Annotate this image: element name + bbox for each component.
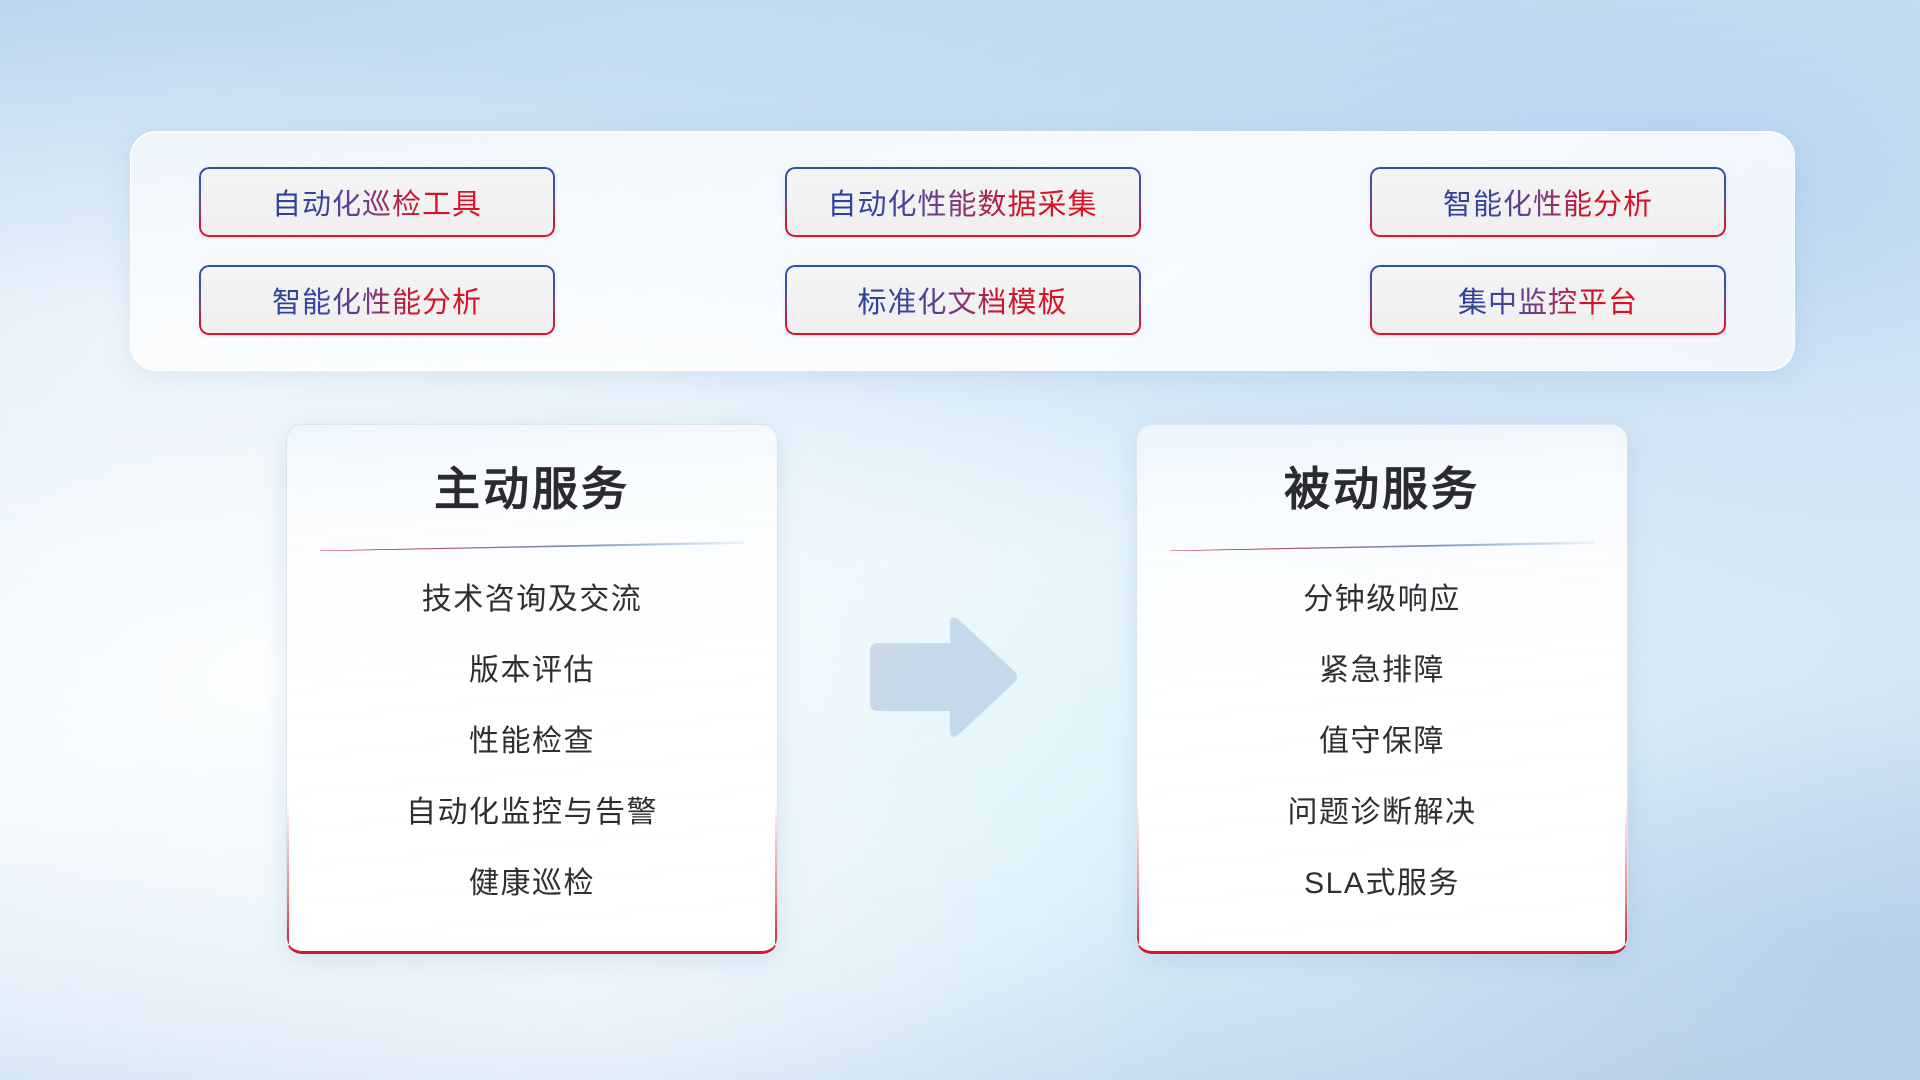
capability-chip[interactable]: 智能化性能分析 xyxy=(199,265,555,335)
capability-chip-label: 智能化性能分析 xyxy=(272,279,482,321)
card-underline-accent xyxy=(1170,541,1594,551)
capability-chip-label: 自动化巡检工具 xyxy=(272,181,482,223)
capability-chip[interactable]: 自动化性能数据采集 xyxy=(785,167,1141,237)
capability-chip[interactable]: 集中监控平台 xyxy=(1370,265,1726,335)
service-list: 分钟级响应 紧急排障 值守保障 问题诊断解决 SLA式服务 xyxy=(1137,585,1627,899)
arrow-right-icon xyxy=(862,613,1020,741)
service-list-item: 性能检查 xyxy=(287,727,777,757)
card-title: 被动服务 xyxy=(1137,461,1627,519)
service-card-passive: 被动服务 分钟级响应 紧急排障 值守保障 xyxy=(1136,424,1628,954)
service-list-item: 版本评估 xyxy=(287,656,777,686)
service-list-item: 值守保障 xyxy=(1137,727,1627,757)
capability-row: 智能化性能分析 标准化文档模板 集中监控平台 xyxy=(199,265,1726,335)
capabilities-panel: 自动化巡检工具 自动化性能数据采集 智能化性能分析 智能化性能分析 标准化文档模… xyxy=(130,131,1795,371)
service-list-item: 分钟级响应 xyxy=(1137,585,1627,615)
service-list-item: 技术咨询及交流 xyxy=(287,585,777,615)
service-list-item: 健康巡检 xyxy=(287,869,777,899)
service-list-item: SLA式服务 xyxy=(1137,869,1627,899)
card-underline-accent xyxy=(320,541,744,551)
capability-chip-label: 智能化性能分析 xyxy=(1443,181,1653,223)
service-list-item: 自动化监控与告警 xyxy=(287,798,777,828)
capability-chip[interactable]: 标准化文档模板 xyxy=(785,265,1141,335)
service-list: 技术咨询及交流 版本评估 性能检查 自动化监控与告警 健康巡检 xyxy=(287,585,777,899)
capability-chip-label: 标准化文档模板 xyxy=(857,279,1067,321)
capability-chip[interactable]: 自动化巡检工具 xyxy=(199,167,555,237)
capability-chip[interactable]: 智能化性能分析 xyxy=(1370,167,1726,237)
card-title: 主动服务 xyxy=(287,461,777,519)
capability-row: 自动化巡检工具 自动化性能数据采集 智能化性能分析 xyxy=(199,167,1726,237)
service-list-item: 问题诊断解决 xyxy=(1137,798,1627,828)
capability-chip-label: 自动化性能数据采集 xyxy=(827,181,1097,223)
service-card-active: 主动服务 技术咨询及交流 版本评估 性能检查 xyxy=(286,424,778,954)
service-list-item: 紧急排障 xyxy=(1137,656,1627,686)
diagram-stage: 自动化巡检工具 自动化性能数据采集 智能化性能分析 智能化性能分析 标准化文档模… xyxy=(0,0,1920,1080)
capability-chip-label: 集中监控平台 xyxy=(1458,279,1638,321)
